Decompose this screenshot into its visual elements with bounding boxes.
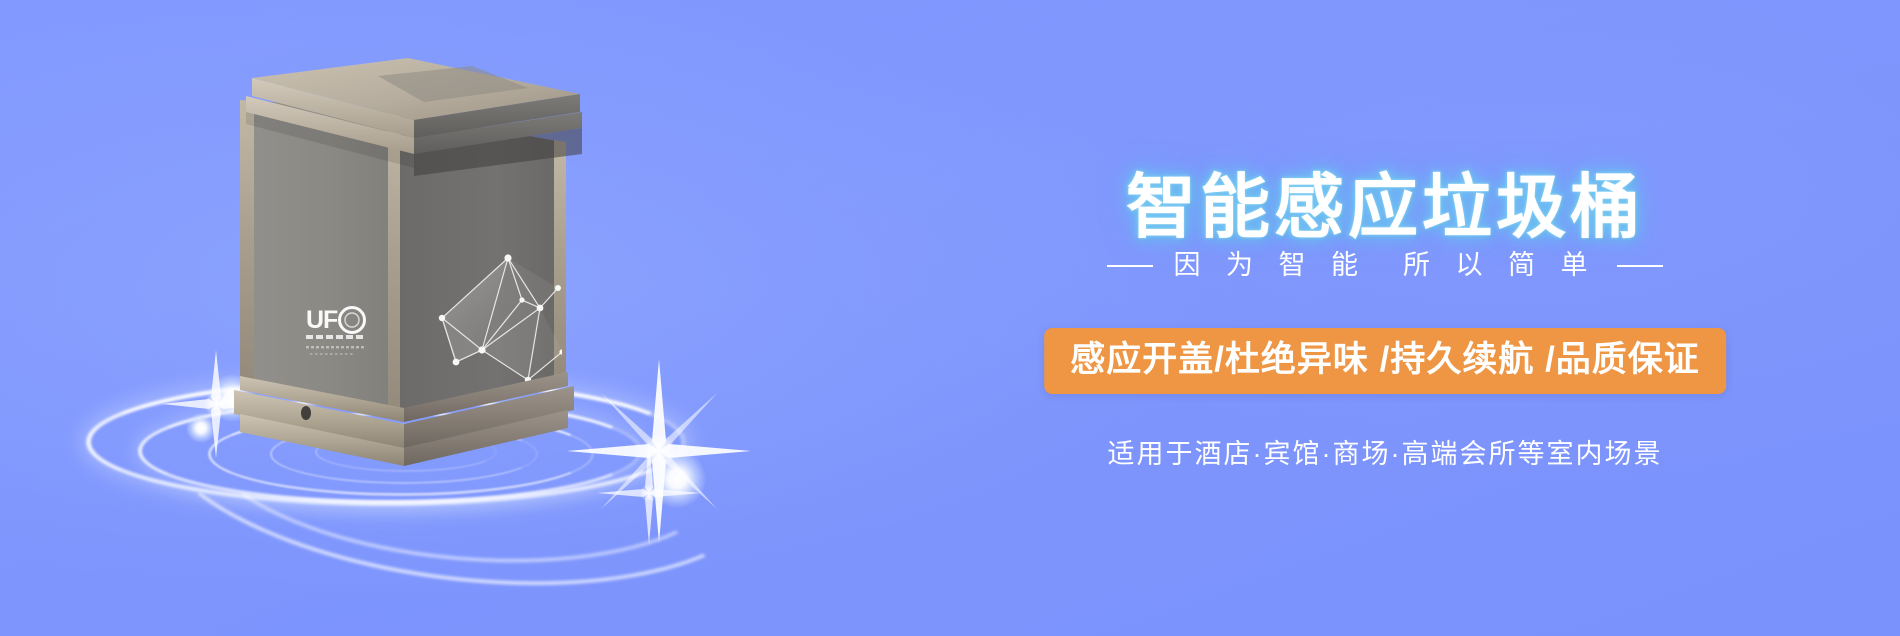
glow-orb-4 bbox=[648, 450, 706, 508]
svg-text:UF: UF bbox=[306, 306, 338, 334]
promo-banner: UF bbox=[0, 0, 1900, 636]
trash-bin-product: UF bbox=[210, 50, 630, 470]
subtitle-line: 因 为 智 能 所 以 简 单 bbox=[880, 252, 1890, 279]
subtitle-text: 因 为 智 能 所 以 简 单 bbox=[1173, 252, 1596, 279]
usage-scenarios-text: 适用于酒店·宾馆·商场·高端会所等室内场景 bbox=[880, 438, 1890, 470]
bin-left-rail-outer bbox=[240, 100, 254, 387]
bin-base-port bbox=[301, 406, 311, 420]
product-scene: UF bbox=[60, 0, 820, 636]
features-badge: 感应开盖/杜绝异味 /持久续航 /品质保证 bbox=[1044, 328, 1726, 394]
subtitle-dash-right bbox=[1617, 265, 1663, 267]
page-title: 智能感应垃圾桶 bbox=[880, 172, 1890, 242]
subtitle-dash-left bbox=[1107, 265, 1153, 267]
copy-block: 智能感应垃圾桶 因 为 智 能 所 以 简 单 感应开盖/杜绝异味 /持久续航 … bbox=[880, 0, 1890, 636]
